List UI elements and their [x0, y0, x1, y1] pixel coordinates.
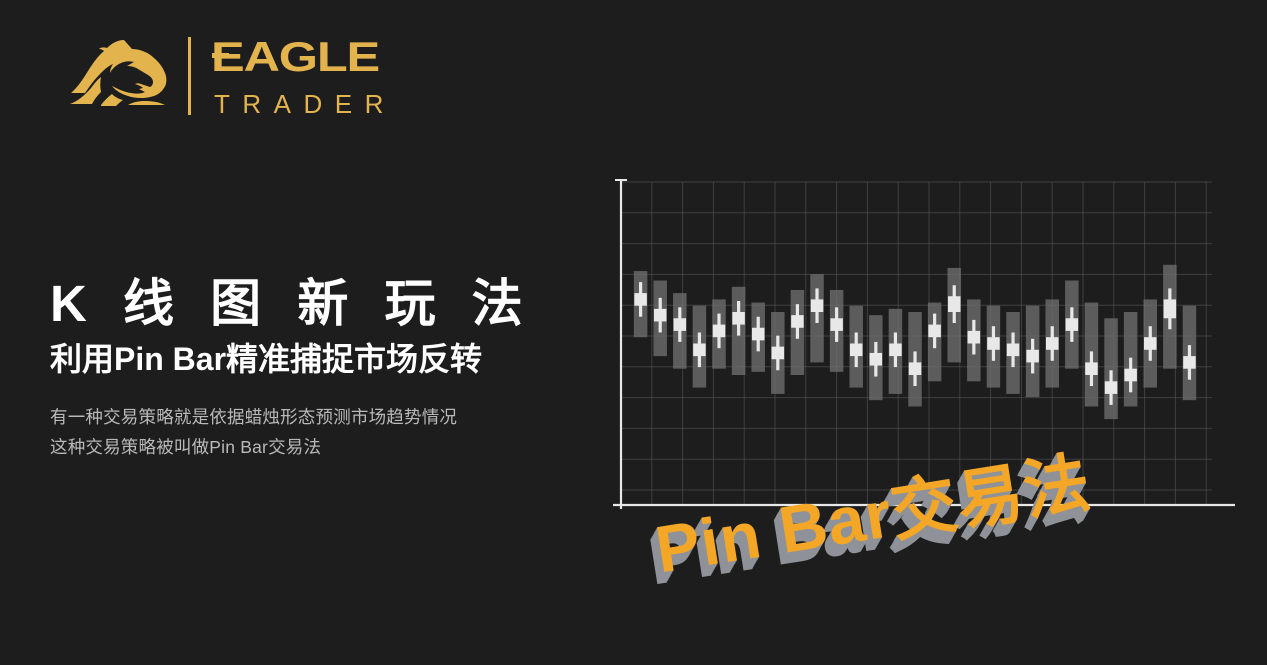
- candlestick: [751, 303, 765, 372]
- candle-body: [791, 315, 804, 328]
- candlestick: [1183, 306, 1197, 401]
- brand-name-primary-text: EAGLE: [211, 35, 379, 79]
- candle-body: [732, 312, 745, 325]
- candle-body: [1007, 344, 1020, 357]
- candle-body: [889, 344, 902, 357]
- candlestick: [987, 306, 1001, 388]
- candle-body: [1144, 337, 1157, 350]
- candle-body: [772, 347, 785, 360]
- candlestick: [1085, 303, 1099, 407]
- candlestick: [908, 312, 922, 407]
- candle-body: [752, 328, 765, 341]
- candle-body: [1066, 318, 1079, 331]
- chart-candles: [634, 265, 1196, 419]
- candle-body: [693, 344, 706, 357]
- candle-body: [634, 293, 647, 306]
- candlestick: [732, 287, 746, 375]
- candle-body: [870, 353, 883, 366]
- candlestick: [791, 290, 805, 375]
- candle-body: [713, 325, 726, 338]
- candle-body: [948, 296, 961, 312]
- poster-canvas: EAGLE TRADER K 线 图 新 玩 法 利用Pin Bar精准捕捉市场…: [0, 0, 1267, 665]
- candle-body: [850, 344, 863, 357]
- candle-body: [1124, 369, 1137, 382]
- candlestick: [1065, 281, 1079, 369]
- candle-body: [654, 309, 667, 322]
- eagle-head-icon: [62, 34, 180, 118]
- candlestick: [1026, 306, 1040, 397]
- brand-name-primary: EAGLE: [211, 35, 396, 79]
- candlestick: [1163, 265, 1177, 369]
- hero-description: 有一种交易策略就是依据蜡烛形态预测市场趋势情况 这种交易策略被叫做Pin Bar…: [50, 402, 580, 462]
- candle-body: [1085, 362, 1098, 375]
- candlestick: [830, 290, 844, 372]
- candle-body: [928, 325, 941, 338]
- candlestick: [693, 306, 707, 388]
- candle-body: [811, 299, 824, 312]
- candlestick: [947, 268, 961, 363]
- candlestick: [634, 271, 648, 337]
- candle-body: [987, 337, 1000, 350]
- candlestick: [1104, 318, 1118, 419]
- candle-body: [909, 362, 922, 375]
- candlestick: [1006, 312, 1020, 394]
- hero-description-line-2: 这种交易策略被叫做Pin Bar交易法: [50, 432, 580, 462]
- candlestick: [889, 309, 903, 394]
- candlestick: [712, 299, 726, 368]
- candle-body: [1026, 350, 1039, 363]
- candlestick: [1124, 312, 1138, 407]
- logo-wordmark: EAGLE TRADER: [211, 35, 396, 117]
- page-subtitle: 利用Pin Bar精准捕捉市场反转: [50, 341, 580, 378]
- brand-name-secondary: TRADER: [211, 91, 396, 117]
- candle-body: [1046, 337, 1059, 350]
- candle-body: [1183, 356, 1196, 369]
- candlestick-chart: [600, 170, 1240, 520]
- candlestick: [1144, 299, 1158, 387]
- candlestick: [967, 299, 981, 381]
- candlestick: [653, 281, 667, 357]
- brand-logo: EAGLE TRADER: [62, 30, 396, 122]
- page-title: K 线 图 新 玩 法: [50, 276, 580, 331]
- candlestick: [1045, 299, 1059, 387]
- candlestick: [869, 315, 883, 400]
- logo-divider: [188, 37, 191, 115]
- candle-body: [830, 318, 843, 331]
- hero-copy: K 线 图 新 玩 法 利用Pin Bar精准捕捉市场反转 有一种交易策略就是依…: [50, 276, 580, 462]
- candlestick: [771, 312, 785, 394]
- candle-body: [674, 318, 687, 331]
- candle-body: [968, 331, 981, 344]
- candle-body: [1164, 299, 1177, 318]
- hero-description-line-1: 有一种交易策略就是依据蜡烛形态预测市场趋势情况: [50, 402, 580, 432]
- candlestick: [673, 293, 687, 369]
- candle-body: [1105, 381, 1118, 394]
- candlestick: [928, 303, 942, 382]
- candlestick: [849, 306, 863, 388]
- candlestick: [810, 274, 824, 362]
